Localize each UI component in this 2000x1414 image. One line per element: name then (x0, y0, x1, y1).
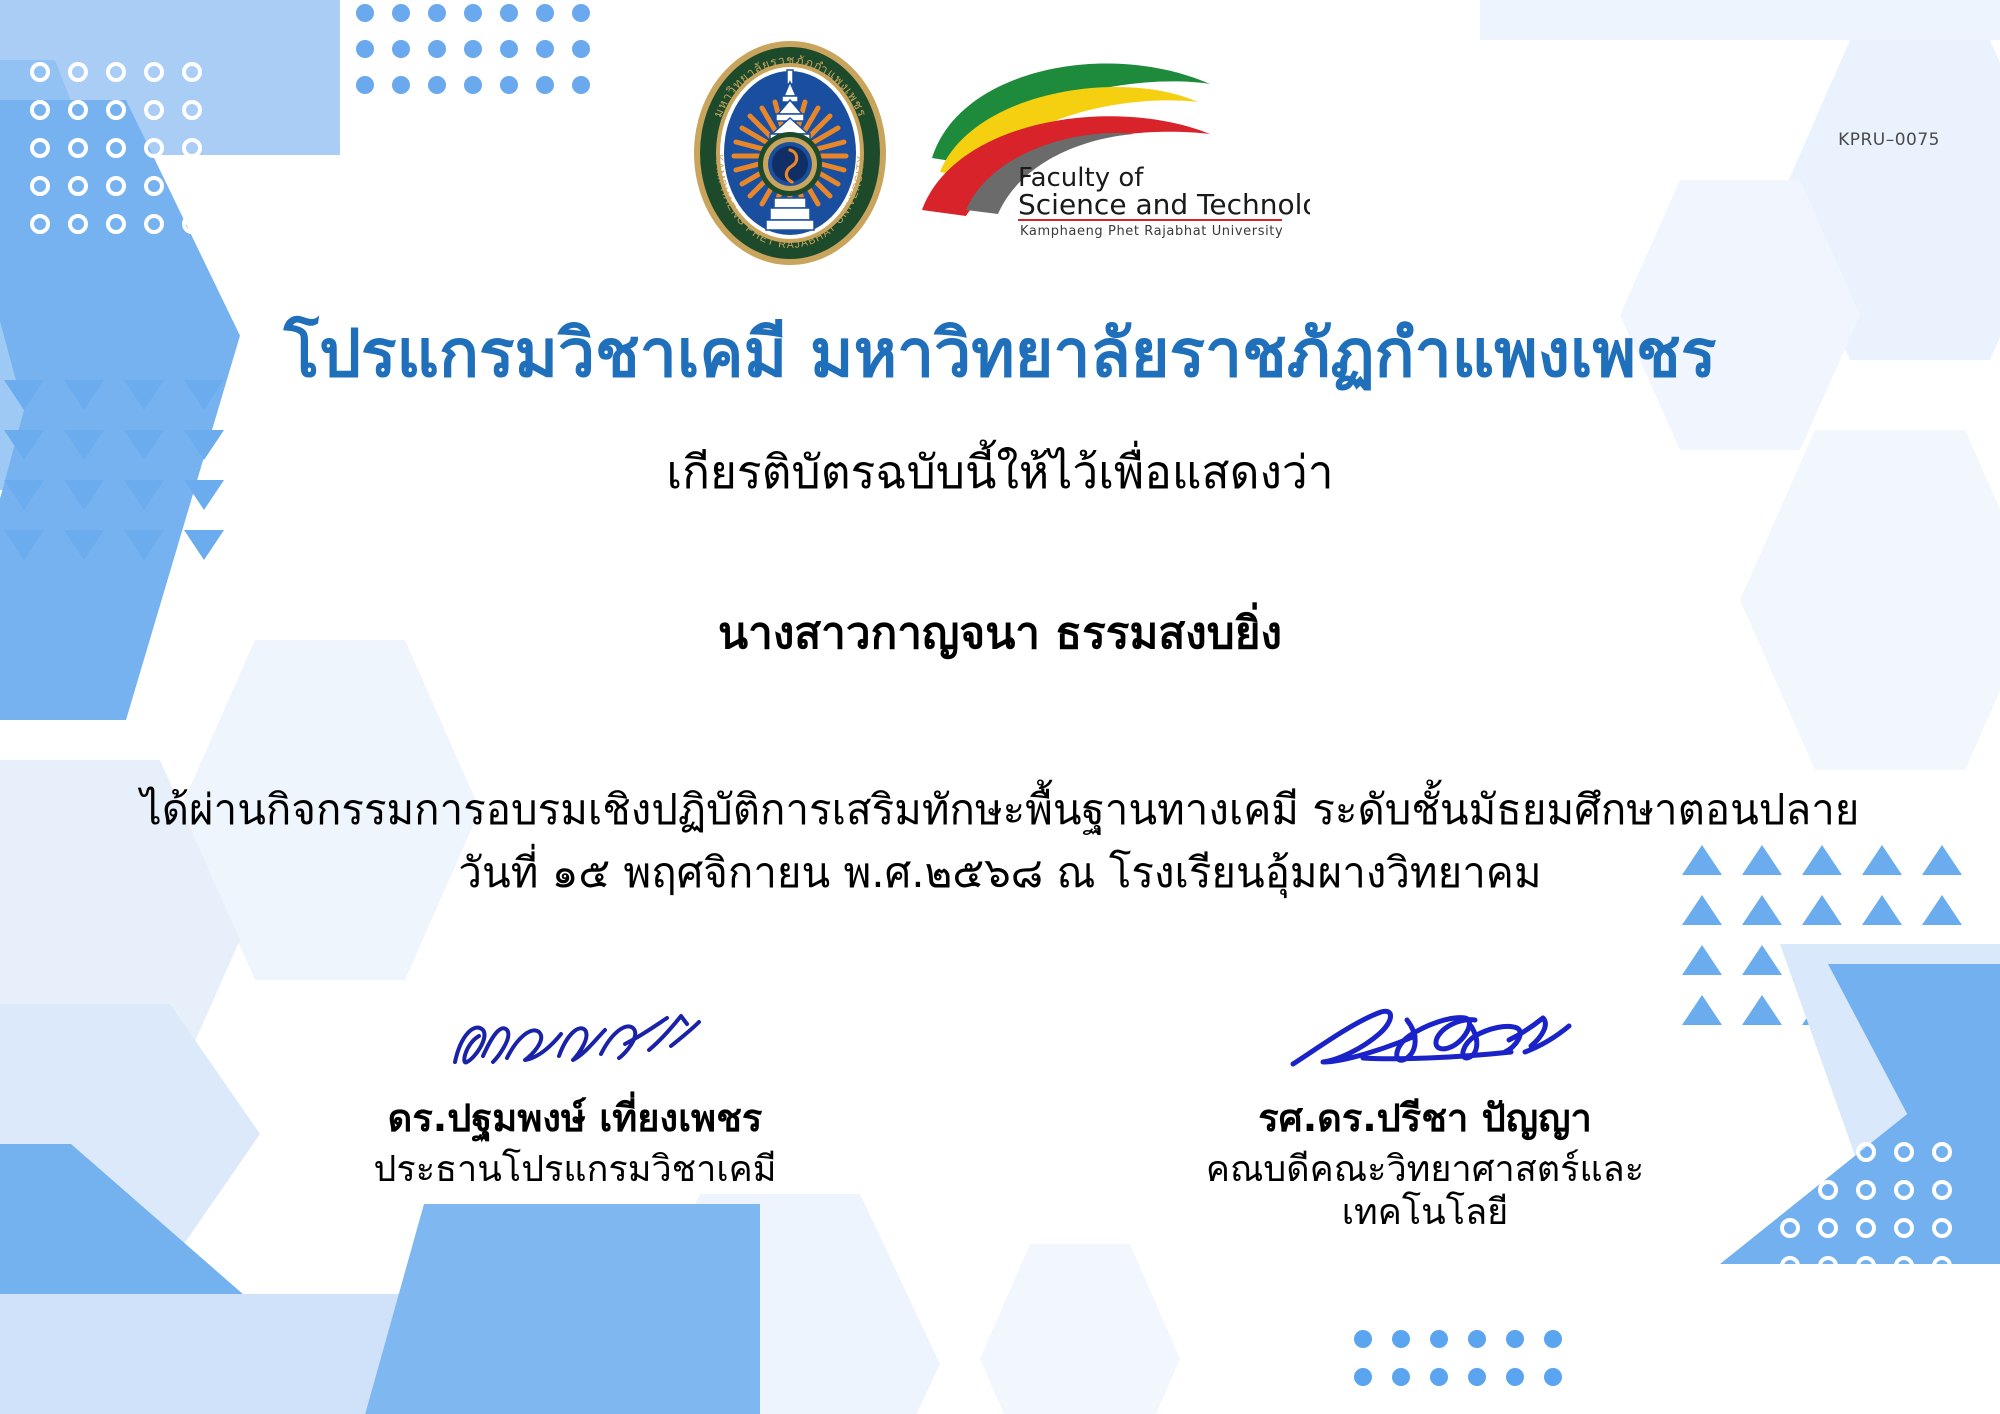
body-line-2: วันที่ ๑๕ พฤศจิกายน พ.ศ.๒๕๖๘ ณ โรงเรียนอ… (0, 841, 2000, 904)
svg-text:Science and Technology: Science and Technology (1018, 188, 1310, 221)
signature-role-left: ประธานโปรแกรมวิชาเคมี (315, 1148, 835, 1191)
faculty-science-technology-logo-icon: Faculty of Science and Technology Kampha… (910, 38, 1310, 238)
certificate-subtitle: เกียรติบัตรฉบับนี้ให้ไว้เพื่อแสดงว่า (0, 445, 2000, 500)
signature-name-right: รศ.ดร.ปรีชา ปัญญา (1165, 1096, 1685, 1142)
body-line-1: ได้ผ่านกิจกรรมการอบรมเชิงปฏิบัติการเสริม… (0, 778, 2000, 841)
kpru-university-seal-icon: มหาวิทยาลัยราชภัฏกำแพงเพชร KAMPHAENG PHE… (690, 38, 890, 268)
recipient-name: นางสาวกาญจนา ธรรมสงบยิ่ง (0, 598, 2000, 668)
signature-row: ดร.ปฐมพงษ์ เที่ยงเพชร ประธานโปรแกรมวิชาเ… (0, 1000, 2000, 1234)
signature-role-right: คณบดีคณะวิทยาศาสตร์และเทคโนโลยี (1165, 1148, 1685, 1234)
signature-block-left: ดร.ปฐมพงษ์ เที่ยงเพชร ประธานโปรแกรมวิชาเ… (315, 1000, 835, 1234)
signature-name-left: ดร.ปฐมพงษ์ เที่ยงเพชร (315, 1096, 835, 1142)
handwritten-signature-left-icon (435, 1000, 715, 1090)
certificate-body: ได้ผ่านกิจกรรมการอบรมเชิงปฏิบัติการเสริม… (0, 778, 2000, 904)
logo-row: มหาวิทยาลัยราชภัฏกำแพงเพชร KAMPHAENG PHE… (0, 38, 2000, 268)
svg-text:Kamphaeng Phet Rajabhat Univer: Kamphaeng Phet Rajabhat University (1020, 224, 1283, 238)
handwritten-signature-right-icon (1275, 1000, 1575, 1090)
signature-block-right: รศ.ดร.ปรีชา ปัญญา คณบดีคณะวิทยาศาสตร์และ… (1165, 1000, 1685, 1234)
page-title: โปรแกรมวิชาเคมี มหาวิทยาลัยราชภัฏกำแพงเพ… (0, 318, 2000, 391)
certificate-page: KPRU–0075 (0, 0, 2000, 1414)
certificate-content: KPRU–0075 (0, 0, 2000, 1414)
